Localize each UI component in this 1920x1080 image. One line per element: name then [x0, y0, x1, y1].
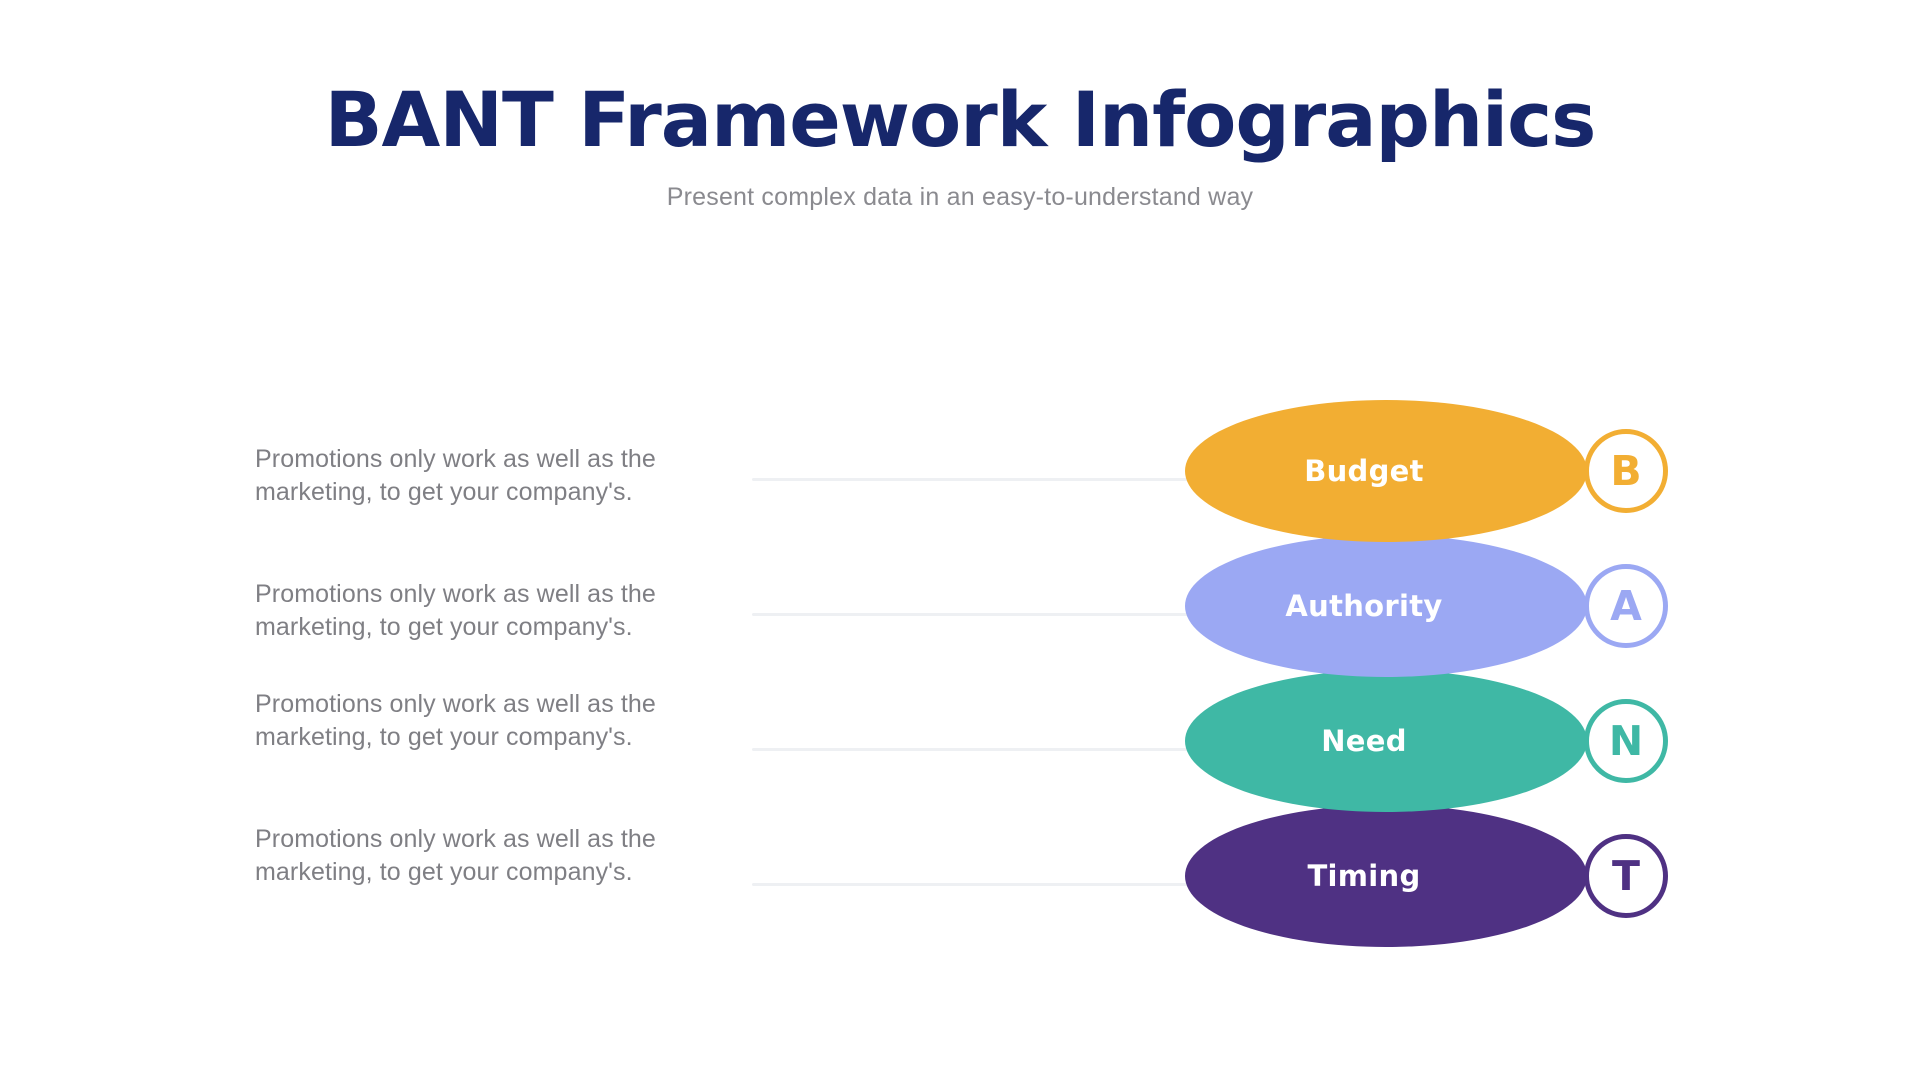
ellipse-label-budget: Budget	[1304, 454, 1424, 488]
ellipse-label-authority: Authority	[1285, 589, 1442, 623]
slide-canvas: BANT Framework Infographics Present comp…	[0, 0, 1920, 1080]
badge-need[interactable]: N	[1584, 699, 1668, 783]
badge-budget[interactable]: B	[1584, 429, 1668, 513]
badge-letter-need: N	[1609, 721, 1643, 762]
connector-line-budget	[752, 478, 1204, 481]
description-authority: Promotions only work as well as the mark…	[255, 578, 735, 644]
description-budget: Promotions only work as well as the mark…	[255, 443, 735, 509]
badge-letter-timing: T	[1612, 856, 1640, 897]
badge-letter-authority: A	[1610, 586, 1642, 627]
description-timing: Promotions only work as well as the mark…	[255, 823, 735, 889]
connector-line-need	[752, 748, 1204, 751]
description-need: Promotions only work as well as the mark…	[255, 688, 735, 754]
ellipse-budget[interactable]: Budget	[1185, 400, 1587, 542]
connector-line-authority	[752, 613, 1204, 616]
ellipse-timing[interactable]: Timing	[1185, 805, 1587, 947]
bant-diagram: Promotions only work as well as the mark…	[0, 0, 1920, 1080]
connector-line-timing	[752, 883, 1204, 886]
badge-timing[interactable]: T	[1584, 834, 1668, 918]
badge-letter-budget: B	[1610, 451, 1641, 492]
ellipse-authority[interactable]: Authority	[1185, 535, 1587, 677]
ellipse-need[interactable]: Need	[1185, 670, 1587, 812]
badge-authority[interactable]: A	[1584, 564, 1668, 648]
ellipse-label-timing: Timing	[1307, 859, 1420, 893]
ellipse-label-need: Need	[1321, 724, 1407, 758]
